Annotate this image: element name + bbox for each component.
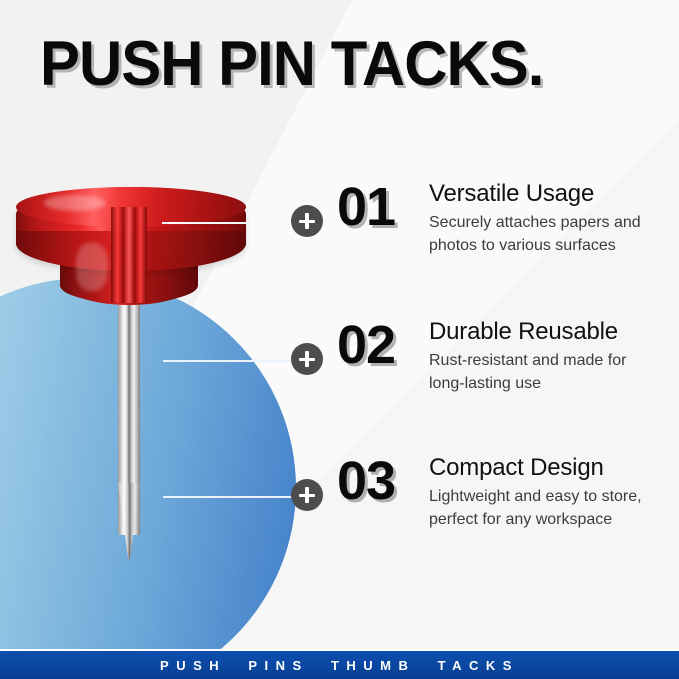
feature-heading-1: Versatile Usage	[429, 180, 661, 208]
pin-head-highlight	[44, 195, 106, 211]
feature-number-1: 01	[337, 180, 429, 234]
feature-heading-3: Compact Design	[429, 454, 661, 482]
plus-icon	[291, 479, 323, 511]
callout-connector-3	[163, 496, 291, 498]
footer-bar: PUSH PINS THUMB TACKS	[0, 651, 679, 679]
feature-body-2: Rust-resistant and made for long-lasting…	[429, 349, 661, 395]
feature-block-2: 02 Durable Reusable Rust-resistant and m…	[291, 318, 661, 395]
feature-block-3: 03 Compact Design Lightweight and easy t…	[291, 454, 661, 531]
infographic-canvas: PUSH PIN TACKS. 01 Versatile Usage Secur…	[0, 0, 679, 679]
feature-body-3: Lightweight and easy to store, perfect f…	[429, 485, 661, 531]
callout-connector-1	[162, 222, 290, 224]
pin-head-highlight-secondary	[76, 243, 108, 291]
pin-head-core-ribs	[111, 207, 147, 303]
feature-text-1: Versatile Usage Securely attaches papers…	[429, 180, 661, 257]
plus-icon	[291, 205, 323, 237]
footer-tagline: PUSH PINS THUMB TACKS	[160, 658, 519, 673]
callout-connector-2	[163, 360, 291, 362]
feature-text-2: Durable Reusable Rust-resistant and made…	[429, 318, 661, 395]
feature-number-2: 02	[337, 318, 429, 372]
feature-heading-2: Durable Reusable	[429, 318, 661, 346]
push-pin-illustration	[10, 185, 260, 575]
feature-block-1: 01 Versatile Usage Securely attaches pap…	[291, 180, 661, 257]
plus-icon	[291, 343, 323, 375]
feature-body-1: Securely attaches papers and photos to v…	[429, 211, 661, 257]
feature-text-3: Compact Design Lightweight and easy to s…	[429, 454, 661, 531]
feature-number-3: 03	[337, 454, 429, 508]
page-title: PUSH PIN TACKS.	[40, 30, 543, 98]
